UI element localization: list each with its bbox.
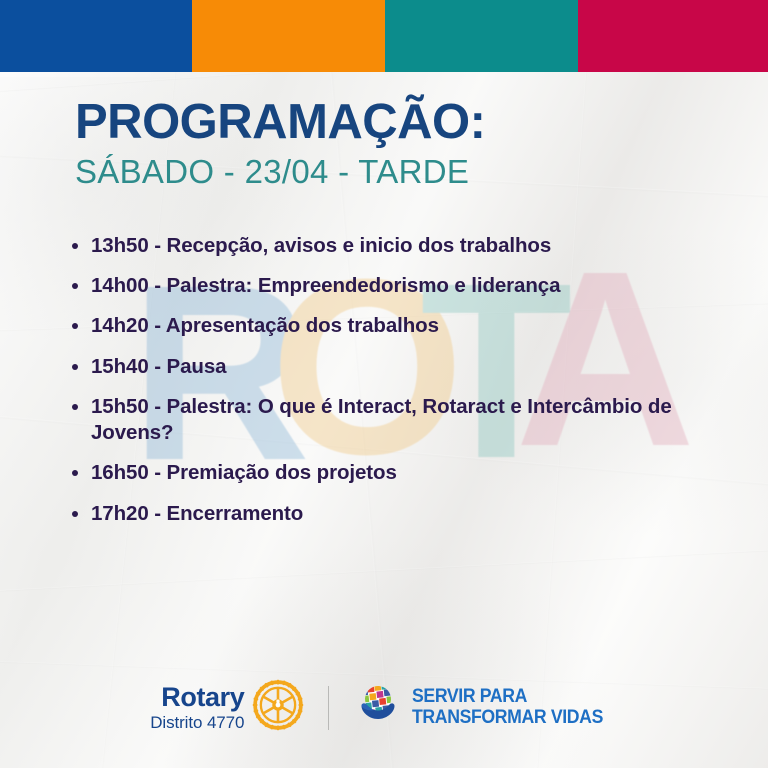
schedule-item: 14h00 - Palestra: Empreendedorismo e lid…	[70, 273, 690, 299]
poster-canvas: ROTA PROGRAMAÇÃO: SÁBADO - 23/04 - TARDE…	[0, 0, 768, 768]
servir-tagline: SERVIR PARA TRANSFORMAR VIDAS	[412, 687, 617, 727]
schedule-item: 15h50 - Palestra: O que é Interact, Rota…	[70, 394, 690, 446]
rotary-logo-lockup: Rotary Distrito 4770	[150, 679, 304, 736]
page-subtitle: SÁBADO - 23/04 - TARDE	[75, 154, 485, 190]
schedule-list: 13h50 - Recepção, avisos e inicio dos tr…	[70, 233, 690, 541]
schedule-item: 15h40 - Pausa	[70, 354, 690, 380]
servir-tagline-line1: SERVIR PARA	[412, 687, 603, 707]
rotary-wordmark: Rotary Distrito 4770	[150, 684, 244, 731]
schedule-item: 14h20 - Apresentação dos trabalhos	[70, 313, 690, 339]
rotary-wheel-icon	[252, 679, 304, 736]
footer-divider	[328, 686, 329, 730]
top-color-bar	[0, 0, 768, 72]
color-bar-segment-teal	[385, 0, 578, 72]
schedule-item: 13h50 - Recepção, avisos e inicio dos tr…	[70, 233, 690, 259]
schedule-item: 17h20 - Encerramento	[70, 501, 690, 527]
title-block: PROGRAMAÇÃO: SÁBADO - 23/04 - TARDE	[75, 98, 485, 190]
color-bar-segment-orange	[192, 0, 385, 72]
rotary-name-text: Rotary	[150, 684, 244, 711]
color-bar-segment-blue	[0, 0, 192, 72]
footer-logos: Rotary Distrito 4770	[0, 679, 768, 736]
rotary-district-text: Distrito 4770	[150, 714, 244, 731]
color-bar-segment-crimson	[578, 0, 768, 72]
page-title: PROGRAMAÇÃO:	[75, 98, 485, 148]
hand-holding-globe-icon	[353, 680, 403, 735]
servir-tagline-line2: TRANSFORMAR VIDAS	[412, 708, 603, 728]
schedule-item: 16h50 - Premiação dos projetos	[70, 460, 690, 486]
servir-logo-lockup: SERVIR PARA TRANSFORMAR VIDAS	[353, 680, 617, 735]
